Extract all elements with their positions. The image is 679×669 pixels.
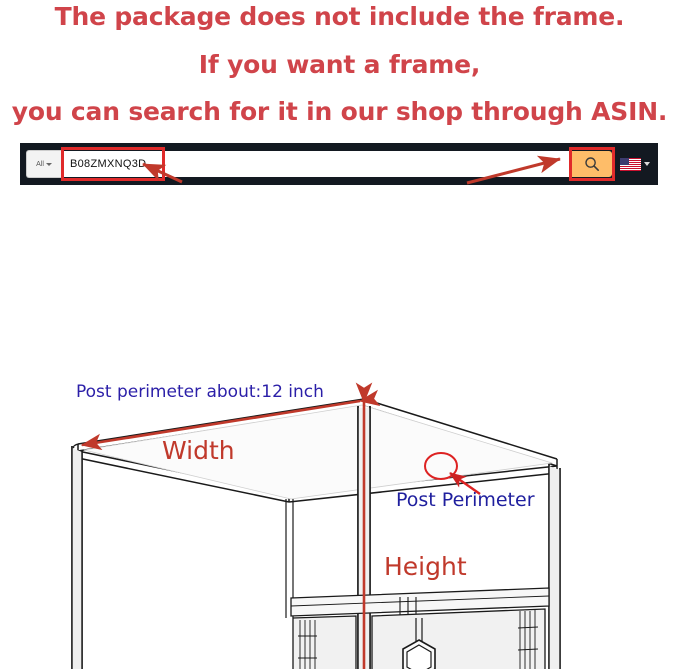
bed-diagram: Post perimeter about:12 inch Width Post … (0, 188, 679, 669)
search-department-label: All (36, 161, 44, 168)
bed-line-drawing (0, 188, 679, 669)
search-submit-button[interactable] (572, 151, 612, 177)
amazon-search-bar[interactable]: All B08ZMXNQ3D (20, 143, 658, 185)
language-selector[interactable] (612, 149, 658, 179)
search-department-select[interactable]: All (26, 150, 61, 178)
search-input[interactable]: B08ZMXNQ3D (61, 151, 572, 177)
us-flag-icon (620, 158, 641, 171)
label-width: Width (162, 436, 235, 465)
chevron-down-icon (46, 163, 52, 166)
notice-line-1: The package does not include the frame. (0, 2, 679, 31)
label-post-perimeter: Post Perimeter (396, 489, 535, 511)
chevron-down-icon (644, 162, 650, 166)
product-measurement-infographic: The package does not include the frame. … (0, 0, 679, 669)
search-icon (584, 156, 600, 172)
search-input-value: B08ZMXNQ3D (61, 158, 146, 170)
label-post-perimeter-top: Post perimeter about:12 inch (76, 382, 324, 402)
notice-line-3: you can search for it in our shop throug… (0, 97, 679, 126)
notice-block: The package does not include the frame. … (0, 0, 679, 138)
label-height: Height (384, 552, 467, 581)
notice-line-2: If you want a frame, (0, 50, 679, 79)
